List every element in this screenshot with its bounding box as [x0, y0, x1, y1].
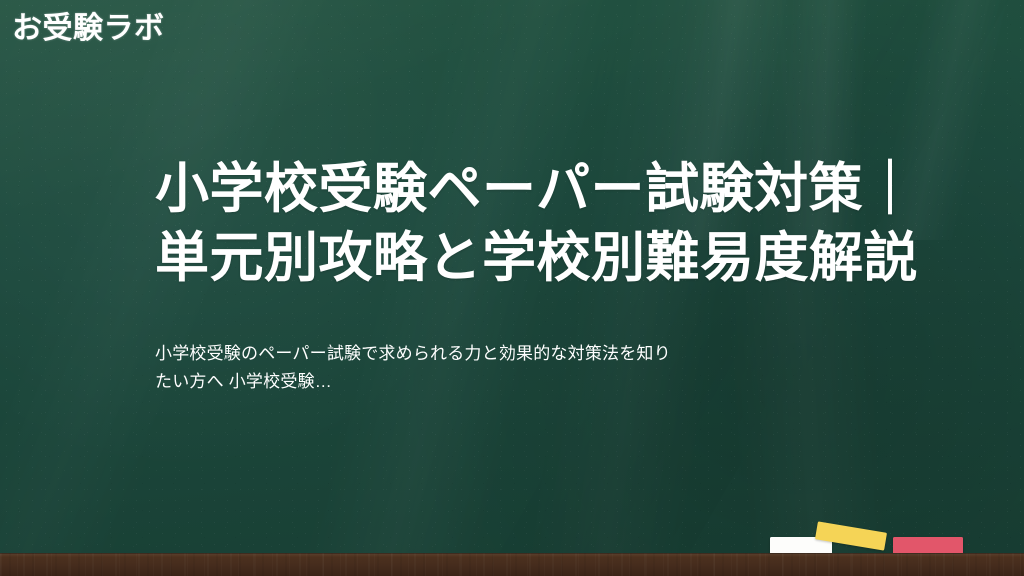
ledge-top-edge: [0, 553, 1024, 554]
page-title: 小学校受験ペーパー試験対策｜単元別攻略と学校別難易度解説: [155, 155, 955, 293]
brand-logo: お受験ラボ: [12, 8, 165, 50]
chalk-ledge: [0, 553, 1024, 576]
page-subtitle: 小学校受験のペーパー試験で求められる力と効果的な対策法を知りたい方へ 小学校受験…: [155, 340, 685, 395]
red-chalk-icon: [893, 537, 963, 554]
blog-thumbnail-card: お受験ラボ 小学校受験ペーパー試験対策｜単元別攻略と学校別難易度解説 小学校受験…: [0, 0, 1024, 576]
headline-block: 小学校受験ペーパー試験対策｜単元別攻略と学校別難易度解説: [155, 155, 955, 293]
